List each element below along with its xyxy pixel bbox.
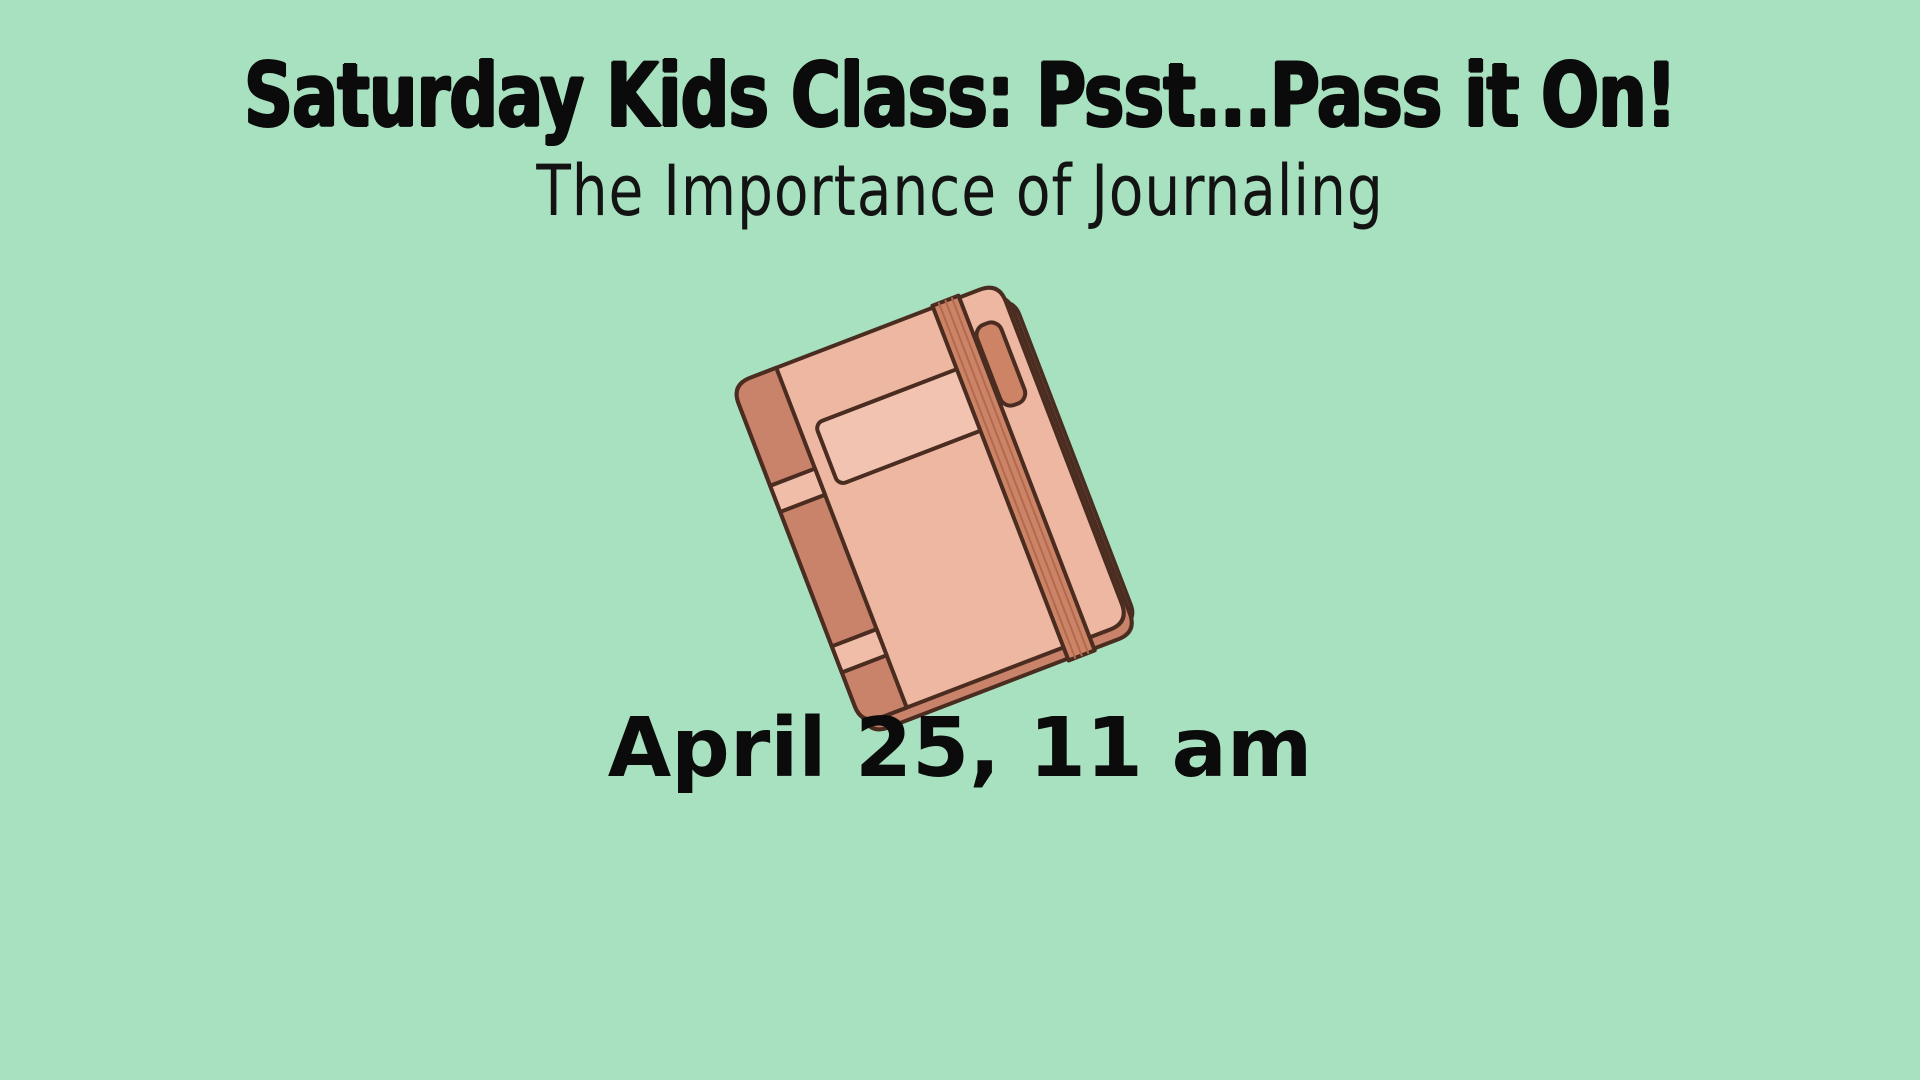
page-subtitle: The Importance of Journaling [96, 156, 1824, 226]
journal-notebook-icon [712, 270, 1212, 730]
poster-canvas: Saturday Kids Class: Psst...Pass it On! … [0, 0, 1920, 1080]
headline-block: Saturday Kids Class: Psst...Pass it On! … [0, 52, 1920, 226]
date-block: April 25, 11 am [0, 706, 1920, 792]
journal-illustration [712, 270, 1212, 730]
journal-group [731, 278, 1142, 738]
event-date-time: April 25, 11 am [608, 706, 1313, 792]
page-title: Saturday Kids Class: Psst...Pass it On! [134, 52, 1785, 140]
